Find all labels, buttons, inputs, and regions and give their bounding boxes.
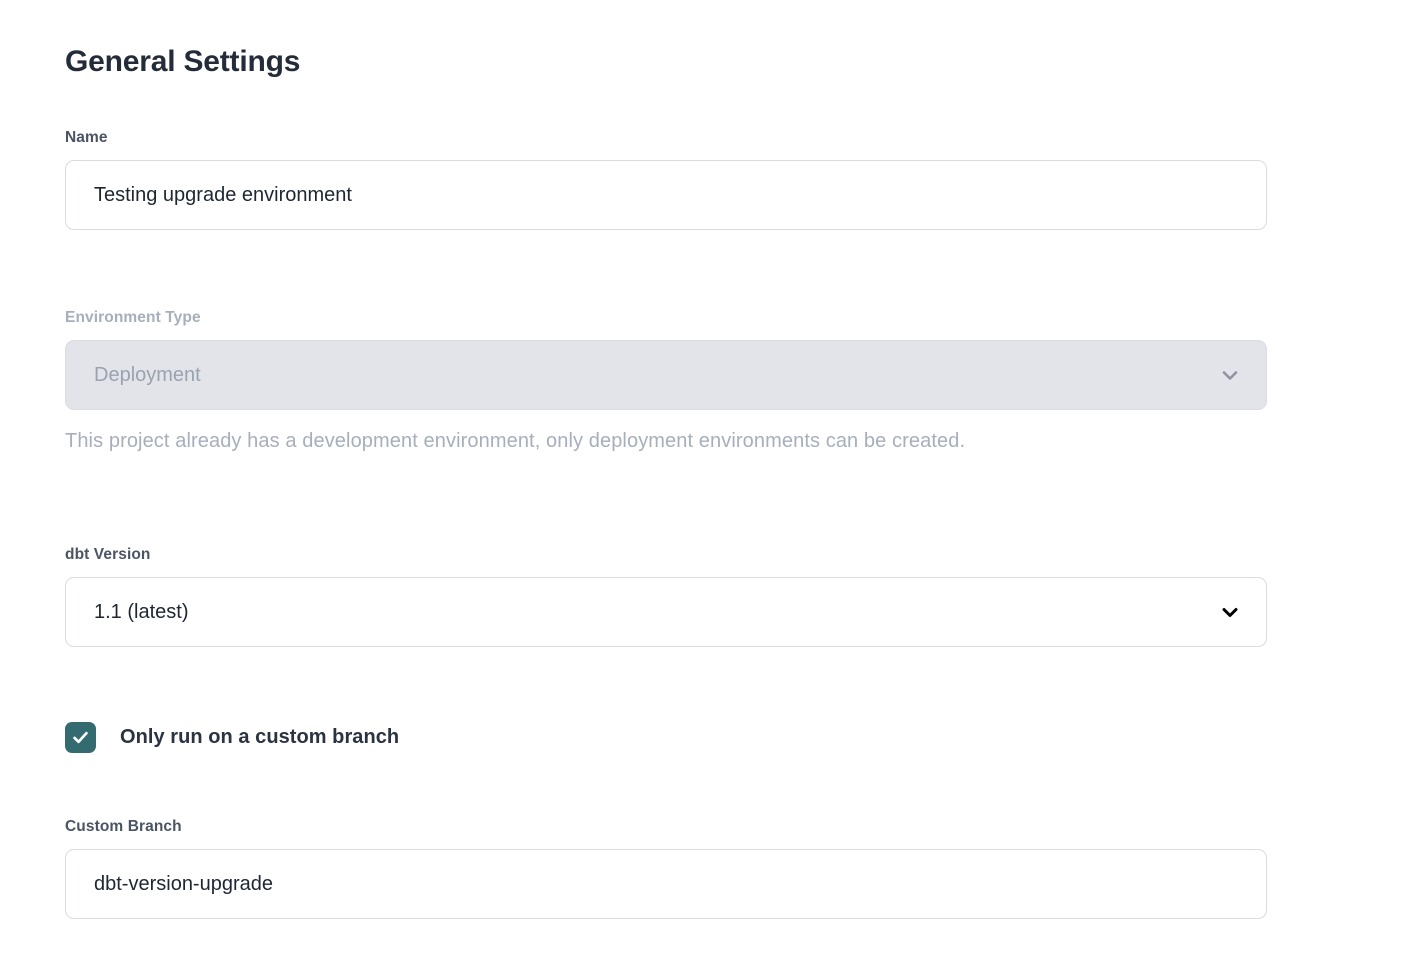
dbt-version-select-value[interactable]: 1.1 (latest): [65, 577, 1267, 647]
custom-branch-toggle-label[interactable]: Only run on a custom branch: [120, 726, 399, 749]
field-group-dbt-version: dbt Version 1.1 (latest): [65, 545, 1267, 647]
page-title: General Settings: [65, 44, 300, 80]
field-group-name: Name: [65, 128, 1267, 230]
dbt-version-select[interactable]: 1.1 (latest): [65, 577, 1267, 647]
custom-branch-label: Custom Branch: [65, 817, 1267, 836]
custom-branch-input[interactable]: [65, 849, 1267, 919]
environment-type-helper-text: This project already has a development e…: [65, 428, 1267, 454]
environment-type-select: Deployment: [65, 340, 1267, 410]
name-label: Name: [65, 128, 1267, 147]
custom-branch-toggle[interactable]: Only run on a custom branch: [65, 722, 399, 753]
field-group-custom-branch: Custom Branch: [65, 817, 1267, 919]
general-settings-page: General Settings Name Environment Type D…: [0, 0, 1406, 958]
environment-type-label: Environment Type: [65, 308, 1267, 327]
environment-type-select-value: Deployment: [65, 340, 1267, 410]
name-input[interactable]: [65, 160, 1267, 230]
custom-branch-checkbox[interactable]: [65, 722, 96, 753]
field-group-environment-type: Environment Type Deployment This project…: [65, 308, 1267, 454]
dbt-version-label: dbt Version: [65, 545, 1267, 564]
check-icon: [71, 728, 90, 747]
